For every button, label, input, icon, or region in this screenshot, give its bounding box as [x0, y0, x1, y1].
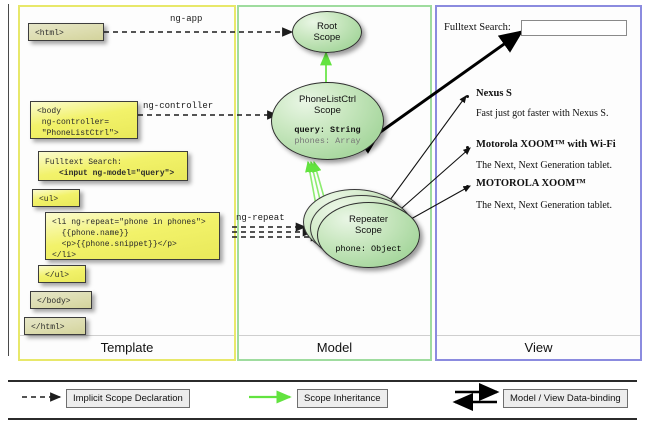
scope-root-title-line2: Scope: [293, 32, 361, 43]
view-search-input[interactable]: [521, 20, 627, 36]
edge-label-ng-controller: ng-controller: [143, 101, 213, 111]
view-phone-name: MOTOROLA XOOM™: [476, 178, 586, 189]
view-phone-snippet: The Next, Next Generation tablet.: [476, 200, 612, 211]
fulltext-search-label: Fulltext Search:: [45, 158, 122, 167]
panel-model: Model: [237, 5, 432, 361]
code-box-ul-close[interactable]: </ul>: [38, 265, 86, 283]
view-phone-snippet: The Next, Next Generation tablet.: [476, 160, 612, 171]
scope-prop-query: query: String: [272, 125, 383, 136]
view-list-bullet: [466, 185, 469, 188]
code-box-html-close[interactable]: </html>: [24, 317, 86, 335]
scope-repeater-title-line1: Repeater: [318, 214, 419, 225]
view-phone-name: Motorola XOOM™ with Wi-Fi: [476, 139, 616, 150]
diagram-canvas: Template Model View: [0, 0, 645, 425]
scope-repeater-title-line2: Scope: [318, 225, 419, 236]
legend-label-model-view-data-binding: Model / View Data-binding: [503, 389, 628, 408]
fulltext-search-input-markup: <input ng-model="query">: [45, 169, 174, 178]
panel-divider: [437, 335, 640, 336]
code-box-html-open[interactable]: <html>: [28, 23, 104, 41]
edge-label-ng-repeat: ng-repeat: [236, 213, 285, 223]
legend-label-implicit-scope-declaration: Implicit Scope Declaration: [66, 389, 190, 408]
code-box-ul-open[interactable]: <ul>: [32, 189, 80, 207]
view-phone-snippet: Fast just got faster with Nexus S.: [476, 108, 609, 119]
view-phone-name: Nexus S: [476, 88, 512, 99]
scope-repeater[interactable]: Repeater Scope phone: Object: [317, 202, 420, 268]
panel-divider: [20, 335, 234, 336]
view-fulltext-search-label: Fulltext Search:: [444, 22, 511, 33]
edge-label-ng-app: ng-app: [170, 14, 202, 24]
scope-root-title-line1: Root: [293, 21, 361, 32]
scope-phonelistctrl-title-line1: PhoneListCtrl: [272, 94, 383, 105]
scope-phone-list-ctrl[interactable]: PhoneListCtrl Scope query: String phones…: [271, 82, 384, 160]
panel-label-model: Model: [239, 340, 430, 355]
legend-bottom-rule: [8, 418, 637, 420]
scope-prop-phones: phones: Array: [272, 136, 383, 147]
view-list-bullet: [466, 95, 469, 98]
panel-divider: [239, 335, 430, 336]
code-box-li-ng-repeat[interactable]: <li ng-repeat="phone in phones"> {{phone…: [45, 212, 220, 260]
scope-prop-phone: phone: Object: [318, 244, 419, 255]
panel-label-view: View: [437, 340, 640, 355]
panel-label-template: Template: [20, 340, 234, 355]
legend-label-scope-inheritance: Scope Inheritance: [297, 389, 388, 408]
scope-root[interactable]: Root Scope: [292, 11, 362, 53]
code-box-body-close[interactable]: </body>: [30, 291, 92, 309]
code-box-fulltext-search[interactable]: Fulltext Search:<input ng-model="query">: [38, 151, 188, 181]
code-box-body-open[interactable]: <body ng-controller= "PhoneListCtrl">: [30, 101, 138, 139]
scope-phonelistctrl-title-line2: Scope: [272, 105, 383, 116]
left-vertical-rule: [8, 4, 9, 356]
legend-top-rule: [8, 380, 637, 382]
view-list-bullet: [466, 146, 469, 149]
